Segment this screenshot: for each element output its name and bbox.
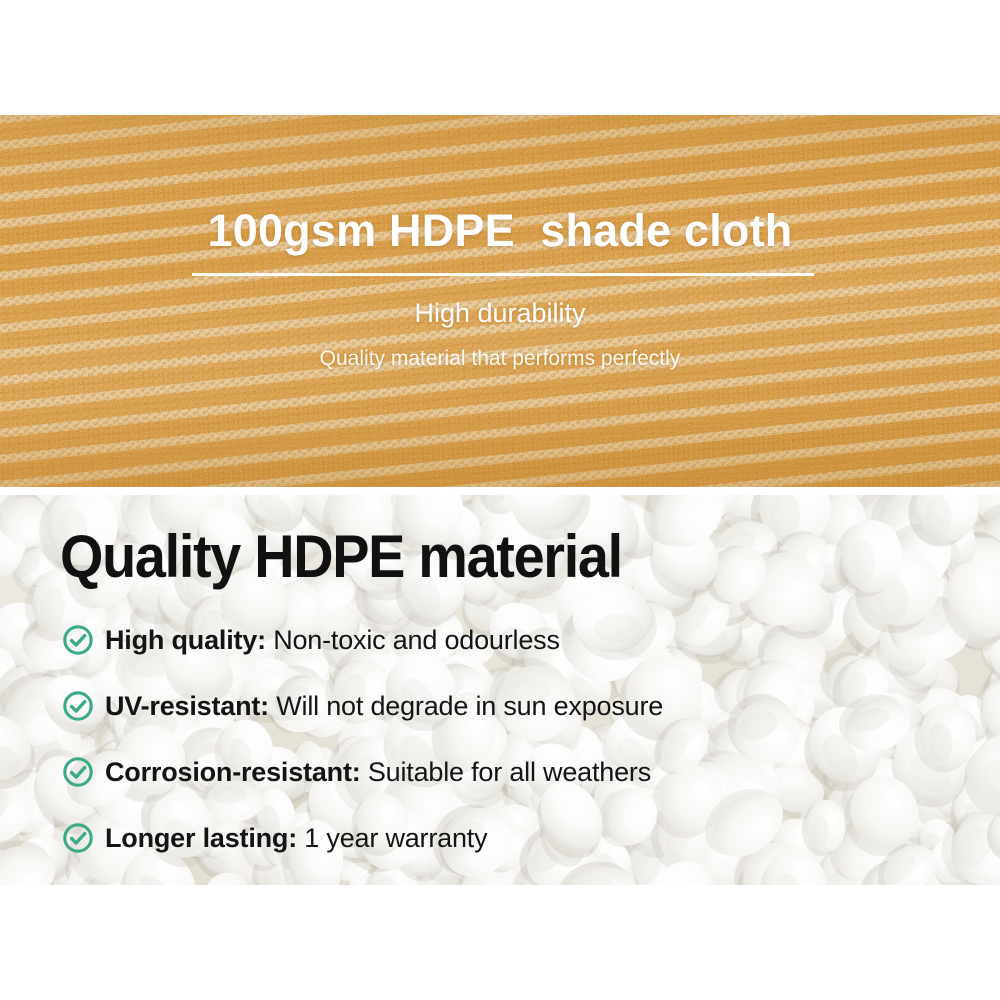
- list-item: Longer lasting: 1 year warranty: [0, 805, 1000, 871]
- check-circle-icon: [62, 756, 94, 788]
- list-item: High quality: Non-toxic and odourless: [0, 607, 1000, 673]
- feature-label: UV-resistant:: [105, 691, 269, 721]
- feature-description: Will not degrade in sun exposure: [269, 691, 663, 721]
- check-circle-icon: [62, 822, 94, 854]
- headline-divider-rule: [192, 273, 814, 276]
- check-circle-icon: [62, 690, 94, 722]
- bottom-heading: Quality HDPE material: [60, 527, 622, 587]
- hdpe-material-banner: Quality HDPE material High quality: Non-…: [0, 495, 1000, 885]
- hdpe-text-overlay: Quality HDPE material High quality: Non-…: [0, 495, 1000, 885]
- feature-text: Longer lasting: 1 year warranty: [105, 825, 487, 852]
- feature-text: Corrosion-resistant: Suitable for all we…: [105, 759, 651, 786]
- shade-cloth-banner: 100gsm HDPE shade cloth High durability …: [0, 115, 1000, 487]
- list-item: UV-resistant: Will not degrade in sun ex…: [0, 673, 1000, 739]
- feature-list: High quality: Non-toxic and odourless UV…: [0, 607, 1000, 871]
- product-infographic: 100gsm HDPE shade cloth High durability …: [0, 0, 1000, 1000]
- shade-cloth-text-overlay: 100gsm HDPE shade cloth High durability …: [0, 115, 1000, 487]
- feature-label: Longer lasting:: [105, 823, 297, 853]
- feature-text: UV-resistant: Will not degrade in sun ex…: [105, 693, 663, 720]
- top-headline: 100gsm HDPE shade cloth: [0, 208, 1000, 253]
- feature-label: Corrosion-resistant:: [105, 757, 361, 787]
- top-subheading: High durability: [0, 300, 1000, 327]
- feature-description: 1 year warranty: [297, 823, 487, 853]
- feature-description: Suitable for all weathers: [361, 757, 651, 787]
- feature-text: High quality: Non-toxic and odourless: [105, 627, 560, 654]
- top-caption: Quality material that performs perfectly: [0, 348, 1000, 369]
- check-circle-icon: [62, 624, 94, 656]
- feature-label: High quality:: [105, 625, 266, 655]
- list-item: Corrosion-resistant: Suitable for all we…: [0, 739, 1000, 805]
- feature-description: Non-toxic and odourless: [266, 625, 560, 655]
